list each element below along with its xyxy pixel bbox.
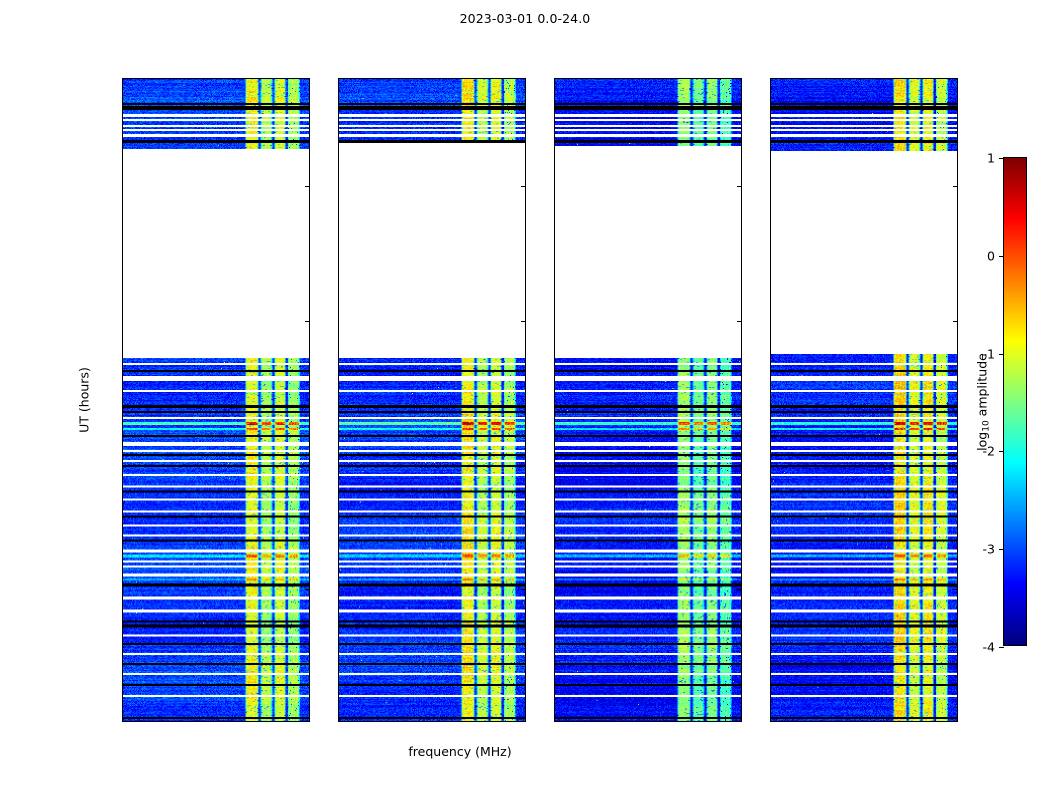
y-tick-mark-right — [953, 321, 957, 322]
y-tick-mark-right — [953, 589, 957, 590]
x-tick-mark — [298, 721, 299, 722]
y-tick-mark — [122, 589, 123, 590]
x-tick-mark — [429, 721, 430, 722]
y-tick-mark-right — [737, 186, 741, 187]
colorbar-tick-label: -3 — [983, 542, 995, 557]
y-tick-mark-right — [953, 455, 957, 456]
y-tick-mark — [338, 455, 339, 456]
panel-plotarea-yx — [771, 79, 957, 721]
colorbar-tick-label: -4 — [983, 640, 995, 655]
x-tick-mark — [861, 721, 862, 722]
y-tick-mark — [338, 589, 339, 590]
y-tick-mark — [554, 186, 555, 187]
x-tick-mark — [602, 721, 603, 722]
x-tick-mark — [471, 721, 472, 722]
colorbar-tick-mark — [999, 549, 1004, 550]
panel-plotarea-xx — [123, 79, 309, 721]
y-tick-mark — [122, 321, 123, 322]
x-tick-mark — [730, 721, 731, 722]
x-tick-mark — [687, 721, 688, 722]
x-tick-mark — [559, 721, 560, 722]
colorbar-label-tail: amplitude — [975, 353, 990, 420]
colorbar-label: log10 amplitude — [975, 353, 990, 451]
x-axis-label: frequency (MHz) — [0, 744, 920, 759]
x-tick-mark — [645, 721, 646, 722]
y-tick-mark — [770, 455, 771, 456]
y-tick-mark-right — [521, 186, 525, 187]
colorbar-tick-label: 0 — [987, 248, 995, 263]
heatmap-panel-xx[interactable]: XX, V5*V6=EA23*EA19 05101520320335350365… — [122, 78, 310, 722]
y-tick-mark — [770, 589, 771, 590]
y-tick-mark-right — [305, 321, 309, 322]
figure-suptitle: 2023-03-01 0.0-24.0 — [0, 11, 1050, 26]
x-tick-mark — [127, 721, 128, 722]
y-axis-label: UT (hours) — [77, 367, 92, 433]
x-tick-mark — [903, 721, 904, 722]
x-tick-mark — [775, 721, 776, 722]
y-tick-mark — [122, 455, 123, 456]
y-tick-mark-right — [521, 589, 525, 590]
x-tick-mark — [255, 721, 256, 722]
colorbar-tick-mark — [999, 354, 1004, 355]
y-tick-mark-right — [305, 186, 309, 187]
colorbar[interactable]: 10-1-2-3-4 — [1003, 157, 1027, 646]
y-tick-mark-right — [521, 455, 525, 456]
y-tick-mark — [770, 186, 771, 187]
x-tick-mark — [386, 721, 387, 722]
colorbar-tick-label: 1 — [987, 151, 995, 166]
x-tick-mark — [818, 721, 819, 722]
colorbar-tick-mark — [999, 256, 1004, 257]
x-tick-mark — [213, 721, 214, 722]
y-tick-mark — [554, 321, 555, 322]
y-tick-mark — [338, 321, 339, 322]
y-tick-mark — [122, 186, 123, 187]
x-tick-mark — [343, 721, 344, 722]
y-tick-mark — [338, 186, 339, 187]
panel-plotarea-yy — [339, 79, 525, 721]
panel-plotarea-xy — [555, 79, 741, 721]
figure-canvas: 2023-03-01 0.0-24.0 XX, V5*V6=EA23*EA19 … — [0, 0, 1050, 800]
x-tick-mark — [946, 721, 947, 722]
heatmap-panel-yx[interactable]: YX, V5*V6=EA23*EA19 05101520320335350365… — [770, 78, 958, 722]
x-tick-mark — [170, 721, 171, 722]
y-tick-mark-right — [737, 455, 741, 456]
y-tick-mark-right — [521, 321, 525, 322]
y-tick-mark-right — [305, 589, 309, 590]
colorbar-tick-mark — [999, 158, 1004, 159]
colorbar-tick-mark — [999, 451, 1004, 452]
colorbar-label-sub: 10 — [982, 420, 992, 431]
y-tick-mark — [554, 455, 555, 456]
y-tick-mark-right — [953, 186, 957, 187]
colorbar-label-main: log — [975, 432, 990, 451]
heatmap-panel-xy[interactable]: XY, V5*V6=EA23*EA19 05101520320335350365… — [554, 78, 742, 722]
heatmap-panel-yy[interactable]: YY, V5*V6=EA23*EA19 05101520320335350365… — [338, 78, 526, 722]
y-tick-mark-right — [737, 589, 741, 590]
x-tick-mark — [514, 721, 515, 722]
y-tick-mark — [554, 589, 555, 590]
y-tick-mark-right — [737, 321, 741, 322]
y-tick-mark-right — [305, 455, 309, 456]
colorbar-tick-mark — [999, 647, 1004, 648]
y-tick-mark — [770, 321, 771, 322]
